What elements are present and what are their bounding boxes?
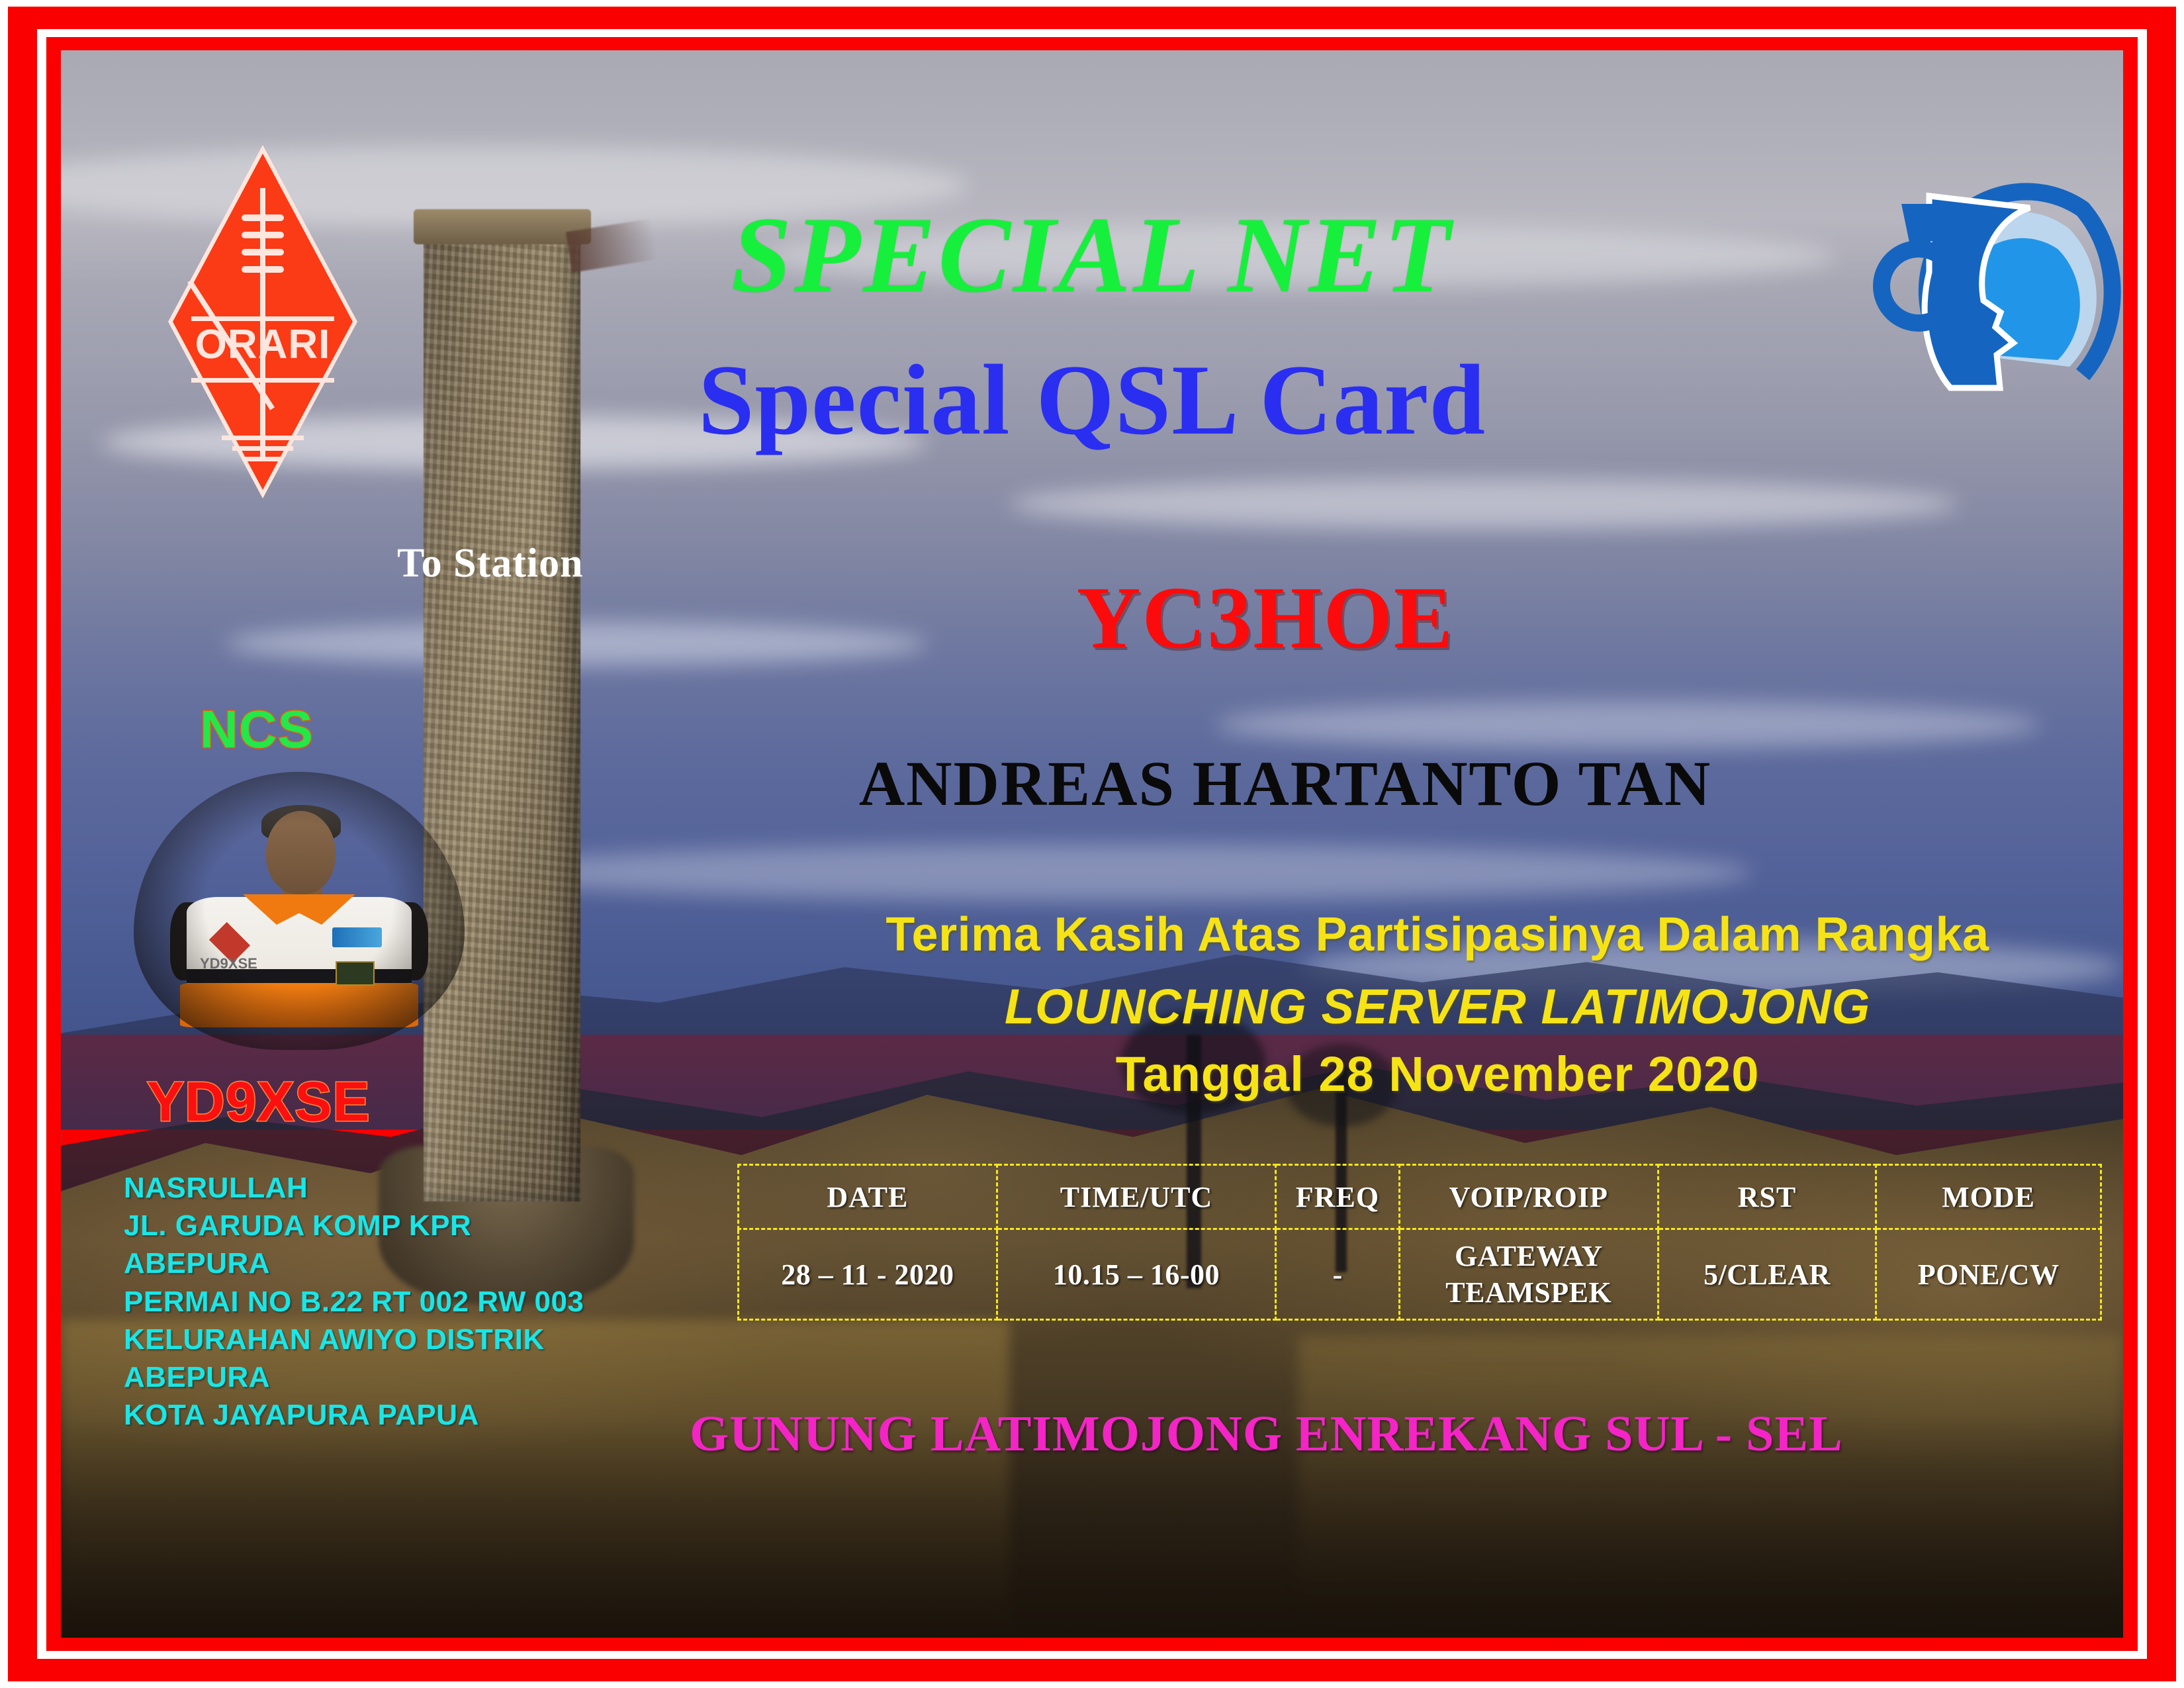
cloud-band bbox=[1009, 479, 1958, 530]
address-line: NASRULLAH bbox=[124, 1169, 673, 1207]
address-line: JL. GARUDA KOMP KPR bbox=[124, 1207, 673, 1244]
orari-diamond-logo: ORARI bbox=[163, 136, 362, 507]
cell-date: 28 – 11 - 2020 bbox=[739, 1229, 997, 1320]
card-background-photo: ORARI SPECIAL NET Special QSL Card To St… bbox=[61, 50, 2123, 1638]
ncs-label: NCS bbox=[200, 699, 314, 760]
column-header-date: DATE bbox=[739, 1165, 997, 1229]
cell-freq: - bbox=[1276, 1229, 1400, 1320]
cell-rst: 5/CLEAR bbox=[1658, 1229, 1876, 1320]
page-title-special-net: SPECIAL NET bbox=[61, 201, 2123, 310]
address-line: KOTA JAYAPURA PAPUA bbox=[124, 1396, 673, 1434]
cell-mode: PONE/CW bbox=[1876, 1229, 2101, 1320]
cell-voip-roip-line1: GATEWAY bbox=[1455, 1240, 1603, 1272]
cell-voip-roip: GATEWAY TEAMSPEK bbox=[1399, 1229, 1658, 1320]
address-line: ABEPURA bbox=[124, 1244, 673, 1282]
event-date-line: Tanggal 28 November 2020 bbox=[776, 1050, 2099, 1099]
qsl-card: ORARI SPECIAL NET Special QSL Card To St… bbox=[0, 0, 2184, 1688]
to-station-label: To Station bbox=[397, 540, 584, 587]
qso-log-table: DATE TIME/UTC FREQ VOIP/ROIP RST MODE 28… bbox=[737, 1164, 2102, 1321]
cloud-band bbox=[1216, 701, 2040, 749]
address-line: KELURAHAN AWIYO DISTRIK bbox=[124, 1321, 673, 1358]
table-row: 28 – 11 - 2020 10.15 – 16-00 - GATEWAY T… bbox=[739, 1229, 2101, 1320]
recipient-operator-name: ANDREAS HARTANTO TAN bbox=[723, 752, 1848, 816]
cloud-band bbox=[473, 844, 1752, 901]
address-line: ABEPURA bbox=[124, 1358, 673, 1396]
column-header-freq: FREQ bbox=[1276, 1165, 1400, 1229]
event-title-line: LOUNCHING SERVER LATIMOJONG bbox=[776, 982, 2099, 1031]
ncs-address-block: NASRULLAH JL. GARUDA KOMP KPR ABEPURA PE… bbox=[124, 1169, 673, 1434]
recipient-callsign: YC3HOE bbox=[875, 573, 1656, 662]
page-subtitle-special-qsl-card: Special QSL Card bbox=[61, 350, 2123, 450]
column-header-time-utc: TIME/UTC bbox=[997, 1165, 1275, 1229]
address-line: PERMAI NO B.22 RT 002 RW 003 bbox=[124, 1283, 673, 1321]
photo-id-card bbox=[336, 961, 375, 986]
cell-time-utc: 10.15 – 16-00 bbox=[997, 1229, 1275, 1320]
mountain-location-line: GUNUNG LATIMOJONG ENREKANG SUL - SEL bbox=[690, 1409, 1947, 1459]
column-header-rst: RST bbox=[1658, 1165, 1876, 1229]
cell-voip-roip-line2: TEAMSPEK bbox=[1445, 1276, 1612, 1309]
photo-vignette bbox=[134, 772, 465, 1050]
thanks-line: Terima Kasih Atas Partisipasinya Dalam R… bbox=[776, 911, 2099, 959]
column-header-mode: MODE bbox=[1876, 1165, 2101, 1229]
ncs-operator-photo: YD9XSE bbox=[134, 772, 465, 1050]
photo-badge-right bbox=[332, 927, 382, 947]
ncs-callsign: YD9XSE bbox=[147, 1070, 371, 1134]
photo-shirt-callsign-text: YD9XSE bbox=[200, 955, 257, 972]
table-header-row: DATE TIME/UTC FREQ VOIP/ROIP RST MODE bbox=[739, 1165, 2101, 1229]
column-header-voip-roip: VOIP/ROIP bbox=[1399, 1165, 1658, 1229]
